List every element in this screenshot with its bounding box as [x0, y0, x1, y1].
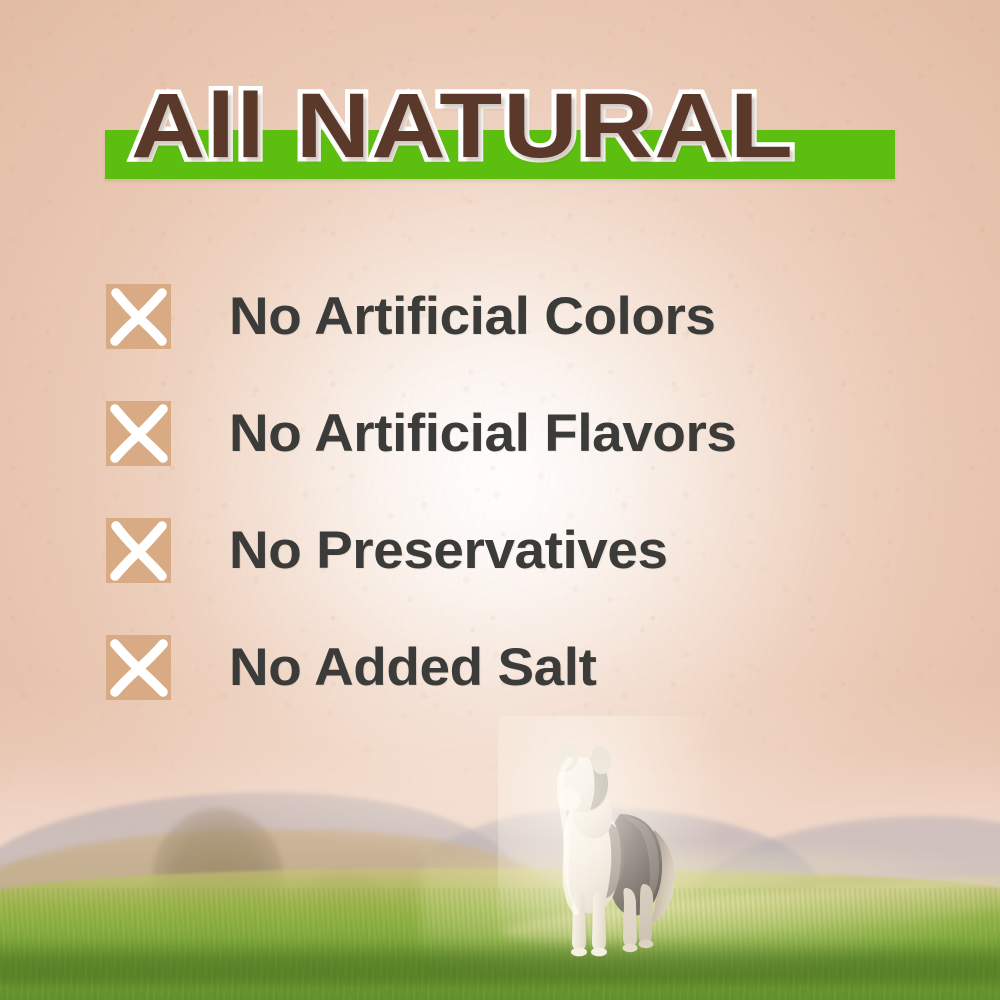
- grass-shadow-band: [0, 938, 1000, 984]
- list-item: No Added Salt: [106, 609, 946, 726]
- all-natural-feature-panel: All NATURAL No Artificial Colors No Arti…: [0, 0, 1000, 1000]
- checkbox-no-added-salt[interactable]: [106, 635, 171, 700]
- feature-label: No Preservatives: [229, 520, 668, 581]
- x-mark-icon: [106, 518, 171, 583]
- x-mark-icon: [106, 284, 171, 349]
- feature-label: No Artificial Colors: [229, 286, 715, 347]
- feature-list: No Artificial Colors No Artificial Flavo…: [106, 258, 946, 726]
- feature-label: No Artificial Flavors: [229, 403, 736, 464]
- x-mark-icon: [106, 635, 171, 700]
- list-item: No Artificial Colors: [106, 258, 946, 375]
- checkbox-no-artificial-colors[interactable]: [106, 284, 171, 349]
- x-mark-icon: [106, 401, 171, 466]
- list-item: No Preservatives: [106, 492, 946, 609]
- feature-label: No Added Salt: [229, 637, 596, 698]
- list-item: No Artificial Flavors: [106, 375, 946, 492]
- landscape-photo: [0, 680, 1000, 1000]
- headline-banner: All NATURAL: [105, 74, 895, 186]
- page-title: All NATURAL: [131, 74, 1000, 178]
- checkbox-no-artificial-flavors[interactable]: [106, 401, 171, 466]
- checkbox-no-preservatives[interactable]: [106, 518, 171, 583]
- dog-illustration: [528, 742, 692, 960]
